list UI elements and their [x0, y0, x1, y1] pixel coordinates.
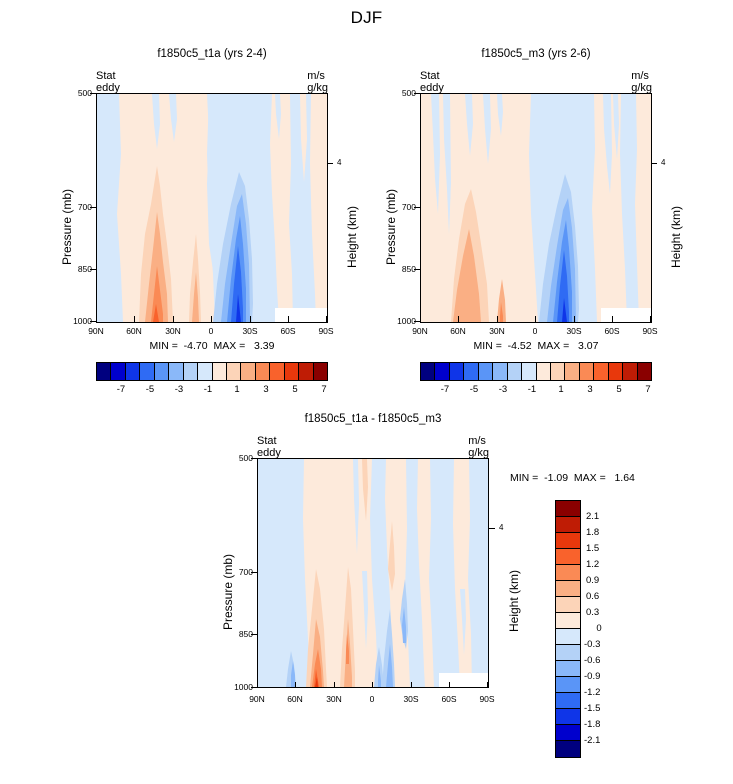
- colorbar-cell: [609, 363, 623, 380]
- contour-plot: [257, 458, 489, 688]
- colorbar-cell: [299, 363, 313, 380]
- colorbar-label: -7: [435, 384, 455, 395]
- minmax-text: MIN = -4.70 MAX = 3.39: [96, 340, 328, 352]
- xtick-mark: [334, 682, 335, 688]
- xtick-mark: [372, 682, 373, 688]
- colorbar-label: 1: [551, 384, 571, 395]
- xtick-label-90N: 90N: [80, 326, 112, 336]
- xtick-label-30S: 30S: [234, 326, 266, 336]
- colorbar-label: 1.2: [586, 559, 612, 570]
- colorbar-cell: [638, 363, 651, 380]
- colorbar-label: -0.6: [584, 655, 612, 666]
- xtick-label-90S: 90S: [471, 694, 503, 704]
- colorbar-label: -3: [169, 384, 189, 395]
- colorbar-cell: [508, 363, 522, 380]
- colorbar-cell: [169, 363, 183, 380]
- colorbar-cell: [493, 363, 507, 380]
- colorbar-cell: [551, 363, 565, 380]
- colorbar[interactable]: [420, 362, 652, 381]
- colorbar-label: -7: [111, 384, 131, 395]
- colorbar-cell: [285, 363, 299, 380]
- xtick-label-0: 0: [519, 326, 551, 336]
- y2tick-label-4: 4: [661, 158, 665, 167]
- colorbar-label: -1.5: [584, 703, 612, 714]
- xtick-label-60S: 60S: [272, 326, 304, 336]
- colorbar-cell: [184, 363, 198, 380]
- colorbar-cell: [556, 565, 580, 581]
- colorbar-label: 0.6: [586, 591, 612, 602]
- xtick-mark: [288, 316, 289, 322]
- colorbar-label: 2.1: [586, 511, 612, 522]
- panel-title: f1850c5_m3 (yrs 2-6): [420, 48, 652, 60]
- colorbar-label: 7: [638, 384, 658, 395]
- colorbar-cell: [556, 533, 580, 549]
- colorbar-label: 5: [285, 384, 305, 395]
- colorbar-cell: [111, 363, 125, 380]
- colorbar-label: -1.8: [584, 719, 612, 730]
- colorbar-cell: [421, 363, 435, 380]
- colorbar-cell: [580, 363, 594, 380]
- xtick-label-60N: 60N: [118, 326, 150, 336]
- colorbar-cell: [556, 725, 580, 741]
- xtick-mark: [96, 316, 97, 322]
- panel-header-right: m/s g/kg: [307, 70, 328, 94]
- minmax-text: MIN = -1.09 MAX = 1.64: [510, 472, 635, 484]
- panel-header-right: m/s g/kg: [631, 70, 652, 94]
- colorbar-cell: [556, 661, 580, 677]
- xtick-label-90S: 90S: [310, 326, 342, 336]
- xtick-label-30N: 30N: [481, 326, 513, 336]
- colorbar-cell: [556, 597, 580, 613]
- colorbar-label: 0.3: [586, 607, 612, 618]
- colorbar-cell: [556, 549, 580, 565]
- colorbar-label: 0: [586, 623, 612, 634]
- colorbar-cell: [126, 363, 140, 380]
- xtick-label-30S: 30S: [395, 694, 427, 704]
- xtick-mark: [497, 316, 498, 322]
- colorbar-label: 3: [256, 384, 276, 395]
- y2tick-label-4: 4: [499, 523, 503, 532]
- contour-plot: [96, 93, 328, 323]
- colorbar-cell: [556, 629, 580, 645]
- colorbar-cell: [435, 363, 449, 380]
- xtick-mark: [134, 316, 135, 322]
- xtick-label-0: 0: [195, 326, 227, 336]
- colorbar-cell: [479, 363, 493, 380]
- colorbar-cell: [556, 693, 580, 709]
- colorbar-label: 1.5: [586, 543, 612, 554]
- y-axis-title: Pressure (mb): [384, 189, 398, 265]
- panel-header-right: m/s g/kg: [468, 435, 489, 459]
- colorbar-cell: [623, 363, 637, 380]
- xtick-mark: [411, 682, 412, 688]
- xtick-label-30S: 30S: [558, 326, 590, 336]
- colorbar-cell: [556, 677, 580, 693]
- ytick-label-1000: 1000: [394, 316, 416, 326]
- panel-title: f1850c5_t1a (yrs 2-4): [96, 48, 328, 60]
- colorbar-cell: [556, 645, 580, 661]
- colorbar[interactable]: [96, 362, 328, 381]
- panel-title: f1850c5_t1a - f1850c5_m3: [257, 413, 489, 425]
- colorbar-label: 3: [580, 384, 600, 395]
- xtick-mark: [420, 316, 421, 322]
- colorbar-cell: [556, 709, 580, 725]
- colorbar-label: -2.1: [584, 735, 612, 746]
- colorbar-cell: [556, 741, 580, 757]
- y-axis-title: Pressure (mb): [60, 189, 74, 265]
- colorbar-cell: [556, 581, 580, 597]
- xtick-label-0: 0: [356, 694, 388, 704]
- colorbar-label: -5: [464, 384, 484, 395]
- xtick-label-90N: 90N: [404, 326, 436, 336]
- y2tick-mark: [489, 528, 495, 529]
- colorbar-cell: [140, 363, 154, 380]
- colorbar-cell: [213, 363, 227, 380]
- colorbar-cell: [556, 613, 580, 629]
- colorbar-label: 1.8: [586, 527, 612, 538]
- colorbar-label: 1: [227, 384, 247, 395]
- colorbar-cell: [227, 363, 241, 380]
- colorbar-cell: [565, 363, 579, 380]
- xtick-mark: [487, 682, 488, 688]
- xtick-mark: [211, 316, 212, 322]
- xtick-mark: [449, 682, 450, 688]
- xtick-mark: [458, 316, 459, 322]
- minmax-text: MIN = -4.52 MAX = 3.07: [420, 340, 652, 352]
- colorbar-cell: [556, 517, 580, 533]
- colorbar-cell: [537, 363, 551, 380]
- colorbar-label: 0.9: [586, 575, 612, 586]
- colorbar-label: -0.9: [584, 671, 612, 682]
- colorbar-cell: [522, 363, 536, 380]
- colorbar-label: -1: [198, 384, 218, 395]
- y-axis-title: Pressure (mb): [221, 554, 235, 630]
- ytick-label-1000: 1000: [70, 316, 92, 326]
- colorbar-label: 5: [609, 384, 629, 395]
- xtick-label-30N: 30N: [157, 326, 189, 336]
- xtick-label-90S: 90S: [634, 326, 666, 336]
- colorbar-cell: [198, 363, 212, 380]
- colorbar-cell: [594, 363, 608, 380]
- main-title: DJF: [0, 8, 733, 28]
- colorbar-label: -1: [522, 384, 542, 395]
- colorbar-cell: [97, 363, 111, 380]
- colorbar-label: -1.2: [584, 687, 612, 698]
- colorbar-cell: [270, 363, 284, 380]
- colorbar-cell: [241, 363, 255, 380]
- colorbar-cell: [450, 363, 464, 380]
- xtick-mark: [535, 316, 536, 322]
- colorbar-label: -0.3: [584, 639, 612, 650]
- xtick-label-60S: 60S: [433, 694, 465, 704]
- ytick-label-1000: 1000: [231, 682, 253, 692]
- colorbar-vertical[interactable]: [555, 500, 581, 758]
- xtick-label-60N: 60N: [442, 326, 474, 336]
- colorbar-label: -5: [140, 384, 160, 395]
- xtick-label-60S: 60S: [596, 326, 628, 336]
- contour-plot: [420, 93, 652, 323]
- colorbar-label: -3: [493, 384, 513, 395]
- xtick-label-60N: 60N: [279, 694, 311, 704]
- colorbar-cell: [464, 363, 478, 380]
- xtick-mark: [612, 316, 613, 322]
- colorbar-cell: [256, 363, 270, 380]
- y2-axis-title: Height (km): [507, 570, 521, 632]
- xtick-mark: [574, 316, 575, 322]
- colorbar-label: 7: [314, 384, 334, 395]
- xtick-label-30N: 30N: [318, 694, 350, 704]
- y2-axis-title: Height (km): [669, 206, 683, 268]
- colorbar-cell: [314, 363, 327, 380]
- xtick-mark: [295, 682, 296, 688]
- xtick-label-90N: 90N: [241, 694, 273, 704]
- xtick-mark: [173, 316, 174, 322]
- xtick-mark: [250, 316, 251, 322]
- y2tick-label-4: 4: [337, 158, 341, 167]
- y2-axis-title: Height (km): [345, 206, 359, 268]
- xtick-mark: [257, 682, 258, 688]
- colorbar-cell: [556, 501, 580, 517]
- xtick-mark: [326, 316, 327, 322]
- colorbar-cell: [155, 363, 169, 380]
- xtick-mark: [650, 316, 651, 322]
